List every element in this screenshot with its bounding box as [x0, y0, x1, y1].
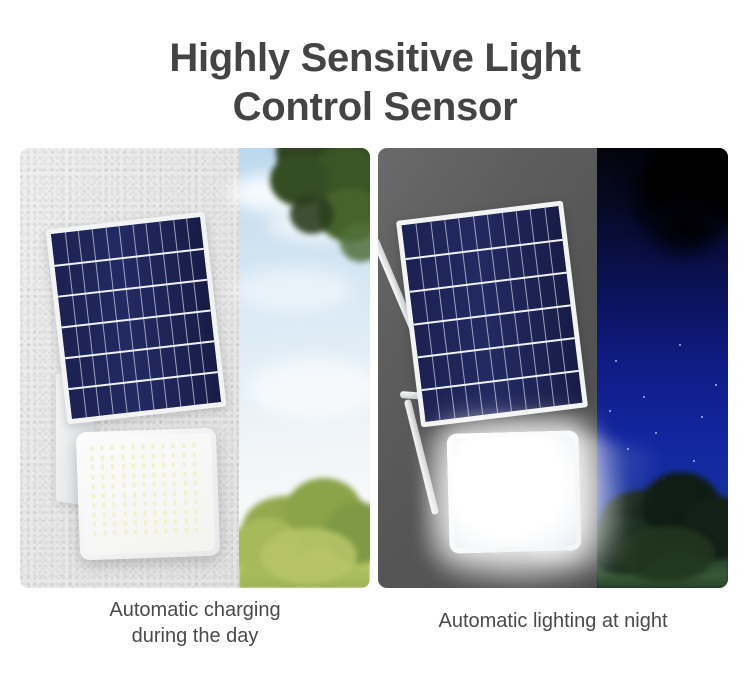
led-chip [141, 445, 144, 450]
led-chip [104, 531, 107, 536]
led-chip [92, 503, 95, 508]
led-chip [152, 472, 155, 477]
led-chip [91, 475, 94, 480]
led-chip [93, 531, 96, 536]
led-chip [163, 482, 166, 487]
led-chip [172, 443, 175, 448]
led-chip [143, 511, 146, 516]
led-chip [154, 510, 157, 515]
led-chip [183, 490, 186, 495]
led-chip [184, 500, 187, 505]
led-chip [131, 445, 134, 450]
led-chip [123, 511, 126, 516]
led-chip [164, 519, 167, 524]
led-chip [192, 443, 195, 448]
led-chip [91, 465, 94, 470]
led-chip [113, 521, 116, 526]
led-chip [101, 465, 104, 470]
page-title-line-2: Control Sensor [0, 83, 750, 132]
led-chip [184, 509, 187, 514]
led-chip [133, 502, 136, 507]
led-chip [192, 452, 195, 457]
led-chip [114, 531, 117, 536]
led-chip [102, 493, 105, 498]
led-chip [194, 499, 197, 504]
led-chip [173, 491, 176, 496]
led-chip [174, 500, 177, 505]
led-chip [143, 492, 146, 497]
led-chip [142, 473, 145, 478]
led-chip [194, 509, 197, 514]
solar-panel [396, 201, 588, 428]
led-chip [153, 491, 156, 496]
led-chip [142, 482, 145, 487]
led-chip [101, 455, 104, 460]
led-chip [134, 520, 137, 525]
led-chip [122, 483, 125, 488]
led-chip [121, 445, 124, 450]
led-chip [102, 474, 105, 479]
led-chip [112, 483, 115, 488]
led-chip [142, 454, 145, 459]
page-title-line-1: Highly Sensitive Light [0, 34, 750, 83]
photo-night-lighting [378, 148, 728, 588]
led-chip [183, 481, 186, 486]
solar-flood-light-unit-night [378, 148, 728, 588]
led-chip [111, 455, 114, 460]
led-chip [101, 446, 104, 451]
flood-lamp-head [76, 428, 220, 561]
solar-panel-cells [51, 217, 221, 419]
led-chip [162, 463, 165, 468]
led-chip [93, 522, 96, 527]
solar-panel [45, 212, 226, 425]
led-chip [134, 530, 137, 535]
led-chip [90, 446, 93, 451]
led-chip [153, 482, 156, 487]
led-chip [164, 510, 167, 515]
led-chip [163, 500, 166, 505]
led-chip [153, 501, 156, 506]
led-chip [113, 502, 116, 507]
led-chip [182, 453, 185, 458]
led-chip [174, 519, 177, 524]
led-chip [92, 484, 95, 489]
led-chip [121, 455, 124, 460]
led-chip [162, 472, 165, 477]
led-chip [144, 520, 147, 525]
led-chip [144, 529, 147, 534]
led-chip [91, 456, 94, 461]
led-chip [162, 453, 165, 458]
led-chip [124, 530, 127, 535]
led-chip [193, 480, 196, 485]
led-chip [163, 491, 166, 496]
led-chip [123, 521, 126, 526]
led-chip [183, 471, 186, 476]
caption-daytime: Automatic charging during the day [20, 598, 370, 649]
led-chip [133, 511, 136, 516]
comparison-photo-row [20, 148, 732, 588]
led-chip [195, 528, 198, 533]
led-chip [195, 518, 198, 523]
led-chip [92, 493, 95, 498]
solar-flood-light-unit-day [20, 148, 370, 588]
led-chip [154, 529, 157, 534]
page-title: Highly Sensitive Light Control Sensor [0, 34, 750, 132]
led-chip [132, 473, 135, 478]
led-chip [182, 443, 185, 448]
led-chip [154, 520, 157, 525]
led-chip [194, 490, 197, 495]
solar-panel-cells [402, 206, 583, 422]
led-chip [143, 501, 146, 506]
led-chip [173, 472, 176, 477]
caption-night-line-1: Automatic lighting at night [378, 609, 728, 635]
led-chip [132, 464, 135, 469]
led-chip [151, 444, 154, 449]
led-chip [93, 512, 96, 517]
led-chip [193, 471, 196, 476]
photo-daytime-charging [20, 148, 370, 588]
led-chip [161, 444, 164, 449]
led-chip [182, 462, 185, 467]
led-chip [113, 512, 116, 517]
caption-night: Automatic lighting at night [378, 609, 728, 635]
led-chip [103, 512, 106, 517]
led-chip [193, 462, 196, 467]
flood-lamp-lens-illuminated [452, 435, 577, 548]
led-chip [112, 474, 115, 479]
led-chip [142, 463, 145, 468]
caption-daytime-line-2: during the day [20, 624, 370, 650]
led-chip [175, 528, 178, 533]
led-chip [133, 492, 136, 497]
flood-lamp-head [446, 430, 581, 553]
led-chip [172, 462, 175, 467]
led-chip [112, 493, 115, 498]
caption-daytime-line-1: Automatic charging [20, 598, 370, 624]
led-chip [172, 453, 175, 458]
led-chip [131, 454, 134, 459]
led-chip [111, 464, 114, 469]
led-chip [103, 521, 106, 526]
led-chip [111, 446, 114, 451]
led-chip [122, 474, 125, 479]
led-chip [132, 483, 135, 488]
led-chip [164, 529, 167, 534]
flood-lamp-lens [81, 433, 215, 555]
led-chip [102, 484, 105, 489]
led-chip [103, 503, 106, 508]
led-chip [123, 492, 126, 497]
led-chip [174, 510, 177, 515]
led-chip [122, 464, 125, 469]
product-feature-graphic: Highly Sensitive Light Control Sensor [0, 0, 750, 675]
led-chip [123, 502, 126, 507]
led-chip [185, 528, 188, 533]
led-chip [184, 519, 187, 524]
led-chip [152, 463, 155, 468]
led-chip [173, 481, 176, 486]
led-chip [152, 454, 155, 459]
